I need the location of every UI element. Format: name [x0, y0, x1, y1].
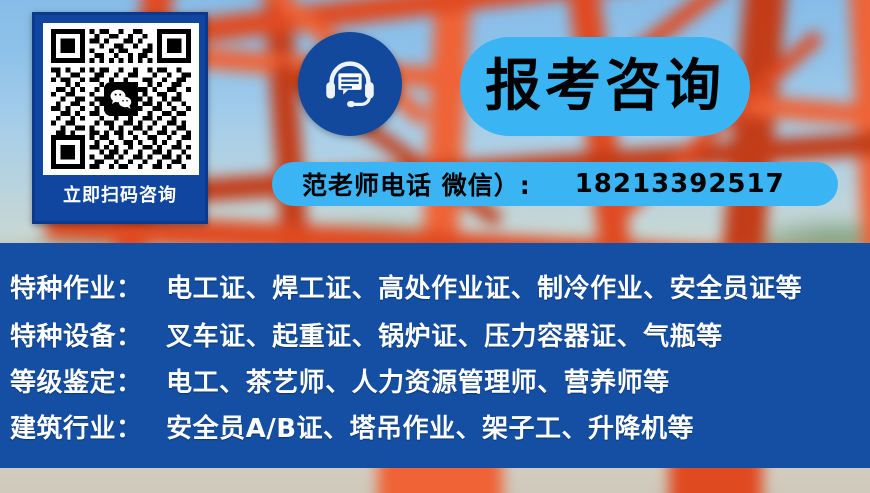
qr-code-frame	[43, 23, 199, 175]
qr-code[interactable]	[51, 29, 191, 169]
contact-number[interactable]: 18213392517	[575, 169, 785, 199]
headset-glyph	[319, 53, 381, 115]
qr-label: 立即扫码咨询	[35, 181, 205, 207]
wechat-glyph	[108, 86, 134, 112]
info-row-lead: 特种设备：	[10, 322, 143, 352]
info-row-body: 安全员A/B证、塔吊作业、架子工、升降机等	[166, 414, 694, 444]
wechat-icon	[104, 82, 138, 116]
info-row-lead: 特种作业：	[10, 274, 143, 304]
promo-poster: 立即扫码咨询 报考咨询 范老师电话 微信）: 18213392517 特种作业：…	[0, 0, 870, 493]
contact-pill[interactable]: 范老师电话 微信）: 18213392517	[272, 162, 838, 206]
contact-label: 范老师电话 微信）:	[302, 166, 531, 202]
info-row-lead: 等级鉴定：	[10, 368, 143, 398]
info-row-special-operations: 特种作业： 电工证、焊工证、高处作业证、制冷作业、安全员证等	[10, 268, 802, 305]
info-row-construction-industry: 建筑行业： 安全员A/B证、塔吊作业、架子工、升降机等	[10, 408, 694, 445]
page-title: 报考咨询	[485, 59, 725, 115]
info-row-body: 叉车证、起重证、锅炉证、压力容器证、气瓶等	[166, 322, 723, 352]
info-row-body: 电工证、焊工证、高处作业证、制冷作业、安全员证等	[166, 274, 802, 304]
headset-support-icon	[298, 32, 402, 136]
title-pill: 报考咨询	[460, 37, 750, 136]
qr-card[interactable]: 立即扫码咨询	[32, 12, 208, 224]
info-row-body: 电工、茶艺师、人力资源管理师、营养师等	[166, 368, 670, 398]
info-row-lead: 建筑行业：	[10, 414, 143, 444]
info-row-grade-assessment: 等级鉴定： 电工、茶艺师、人力资源管理师、营养师等	[10, 362, 670, 399]
info-row-special-equipment: 特种设备： 叉车证、起重证、锅炉证、压力容器证、气瓶等	[10, 316, 723, 353]
